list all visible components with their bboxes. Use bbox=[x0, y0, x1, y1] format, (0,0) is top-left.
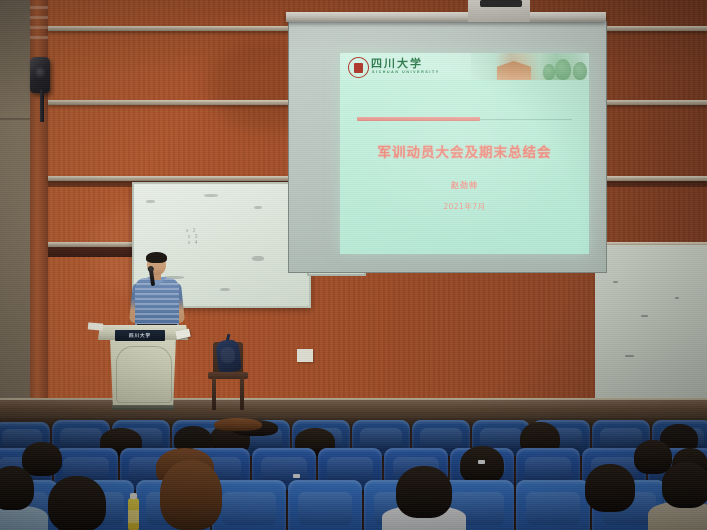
audience-head bbox=[22, 442, 62, 476]
backpack-icon bbox=[215, 339, 241, 373]
podium-base bbox=[112, 405, 174, 410]
university-seal-icon bbox=[348, 57, 369, 78]
left-stone-wall-upper bbox=[0, 0, 30, 118]
podium: 四川大学 bbox=[98, 325, 188, 410]
slide-presenter-name: 赵劲帅 bbox=[340, 180, 589, 191]
chair-leg-right bbox=[240, 378, 244, 410]
podium-nameplate: 四川大学 bbox=[115, 330, 165, 341]
ceiling-mount-cap bbox=[480, 0, 522, 7]
slide-header-banner: 四川大学 SICHUAN UNIVERSITY bbox=[340, 53, 589, 80]
audience-head bbox=[214, 418, 262, 431]
university-name-cn: 四川大学 bbox=[371, 58, 423, 70]
speaker-mount-arm bbox=[40, 90, 44, 122]
campus-building bbox=[497, 61, 531, 80]
projected-slide: 四川大学 SICHUAN UNIVERSITY 军训动员大会及期末总结会 赵劲帅… bbox=[340, 53, 589, 254]
slide-divider-accent bbox=[357, 117, 480, 121]
wooden-chair bbox=[208, 342, 248, 410]
drink-bottle bbox=[128, 498, 139, 530]
podium-body bbox=[108, 340, 178, 408]
audience-head bbox=[160, 460, 222, 530]
audience-head bbox=[634, 440, 672, 474]
audience-head bbox=[585, 464, 635, 512]
audience-head bbox=[396, 466, 452, 518]
loudspeaker-icon bbox=[30, 57, 50, 93]
chair-leg-left bbox=[212, 378, 216, 410]
audience-head bbox=[48, 476, 106, 530]
screen-roller-housing bbox=[286, 12, 606, 22]
presenter-hair bbox=[146, 252, 167, 263]
campus-photo-banner bbox=[471, 53, 589, 80]
audience-head bbox=[662, 462, 707, 508]
presenter-torso bbox=[135, 278, 179, 328]
lecture-hall-photo: x 2 x 3 x 4 四川大学 SICHUAN UNIVERSITY bbox=[0, 0, 707, 530]
slide-title: 军训动员大会及期末总结会 bbox=[340, 141, 589, 161]
papers-on-podium-left bbox=[88, 322, 104, 330]
university-name-en: SICHUAN UNIVERSITY bbox=[372, 70, 440, 75]
projection-screen: 四川大学 SICHUAN UNIVERSITY 军训动员大会及期末总结会 赵劲帅… bbox=[288, 21, 607, 273]
podium-nameplate-text: 四川大学 bbox=[129, 333, 151, 339]
audience-head bbox=[460, 446, 504, 484]
audience-head bbox=[0, 466, 34, 510]
slide-date: 2021年7月 bbox=[340, 201, 589, 212]
audience-seating bbox=[0, 418, 707, 530]
paper-on-wall bbox=[297, 349, 313, 362]
